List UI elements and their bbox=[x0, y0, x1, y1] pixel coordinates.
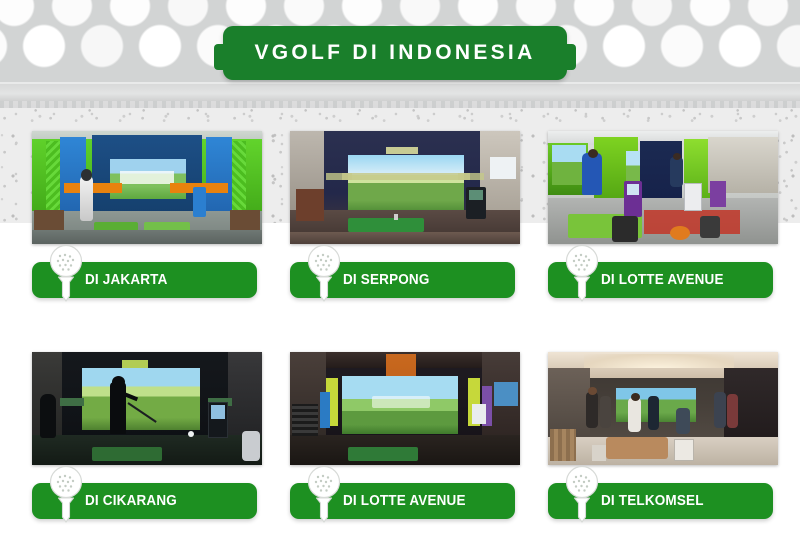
location-photo bbox=[290, 131, 520, 244]
golf-ball-on-tee-icon bbox=[302, 244, 346, 302]
page-title-plate: VGOLF DI INDONESIA bbox=[223, 26, 567, 80]
location-label: DI TELKOMSEL bbox=[601, 493, 704, 509]
location-label: DI CIKARANG bbox=[85, 493, 177, 509]
golf-ball-on-tee-icon bbox=[560, 465, 604, 523]
golf-ball-on-tee-icon bbox=[44, 465, 88, 523]
location-photo bbox=[548, 131, 778, 244]
location-photo bbox=[32, 131, 262, 244]
location-label: DI SERPONG bbox=[343, 272, 430, 288]
location-label: DI LOTTE AVENUE bbox=[601, 272, 724, 288]
location-label: DI JAKARTA bbox=[85, 272, 168, 288]
golf-ball-on-tee-icon bbox=[560, 244, 604, 302]
location-photo bbox=[290, 352, 520, 465]
golf-ball-on-tee-icon bbox=[302, 465, 346, 523]
location-label: DI LOTTE AVENUE bbox=[343, 493, 466, 509]
page-title: VGOLF DI INDONESIA bbox=[254, 41, 535, 65]
location-photo bbox=[548, 352, 778, 465]
location-photo bbox=[32, 352, 262, 465]
hero-shelf bbox=[0, 84, 800, 108]
golf-ball-on-tee-icon bbox=[44, 244, 88, 302]
